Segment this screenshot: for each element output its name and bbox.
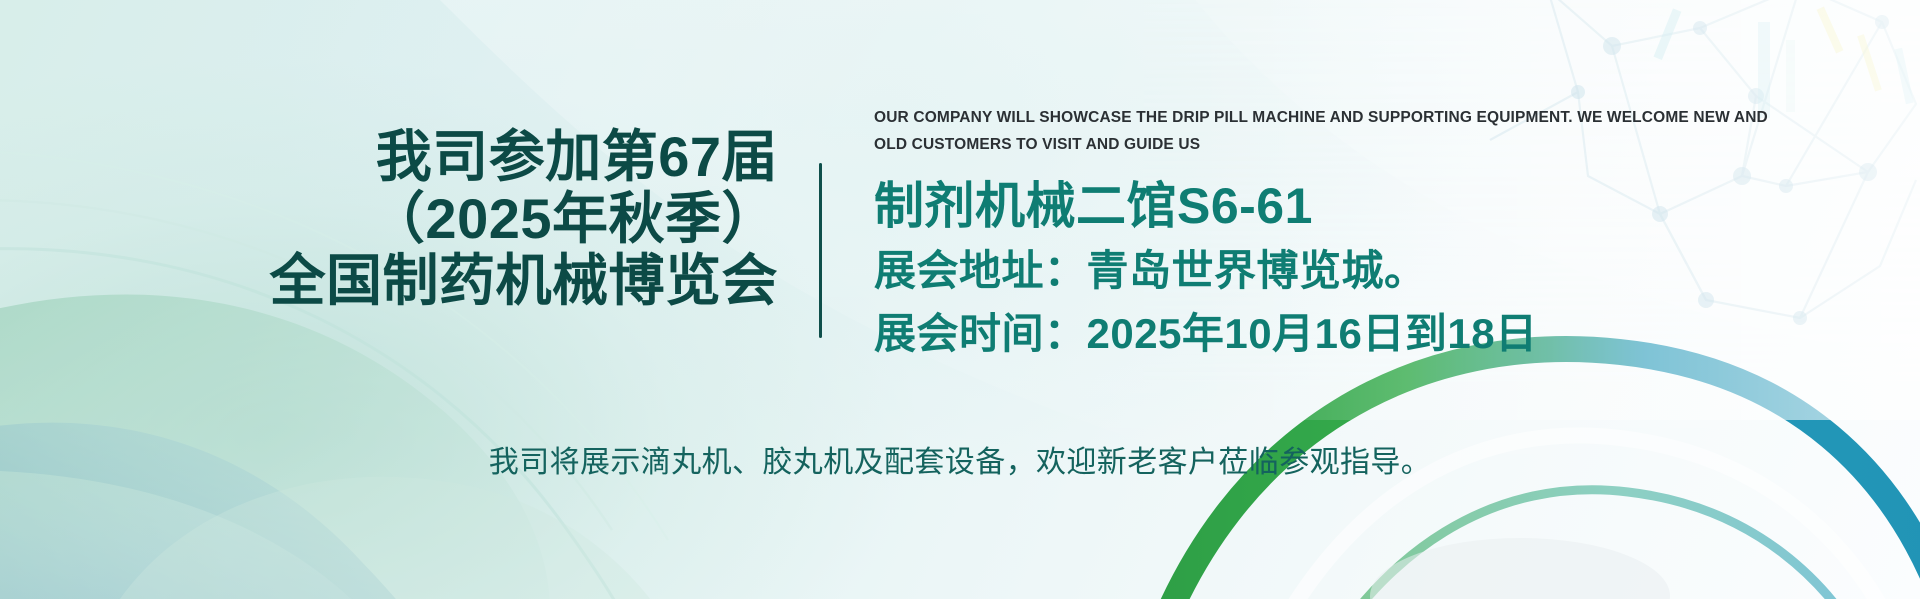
molecule-accent-strokes — [1654, 6, 1914, 118]
vertical-divider — [819, 163, 822, 338]
event-date: 展会时间：2025年10月16日到18日 — [874, 307, 1884, 361]
bottom-tagline: 我司将展示滴丸机、胶丸机及配套设备，欢迎新老客户莅临参观指导。 — [0, 443, 1920, 483]
event-title-line-2: （2025年秋季） — [0, 188, 778, 250]
english-intro-text: OUR COMPANY WILL SHOWCASE THE DRIP PILL … — [874, 104, 1794, 158]
event-title-line-1: 我司参加第67届 — [0, 126, 778, 188]
event-details-block: OUR COMPANY WILL SHOWCASE THE DRIP PILL … — [874, 104, 1884, 361]
booth-number: 制剂机械二馆S6-61 — [874, 177, 1884, 235]
event-title-block: 我司参加第67届 （2025年秋季） 全国制药机械博览会 — [0, 126, 800, 312]
venue-address: 展会地址：青岛世界博览城。 — [874, 244, 1884, 298]
exhibition-banner: 我司参加第67届 （2025年秋季） 全国制药机械博览会 OUR COMPANY… — [0, 0, 1920, 599]
event-title-line-3: 全国制药机械博览会 — [0, 250, 778, 312]
